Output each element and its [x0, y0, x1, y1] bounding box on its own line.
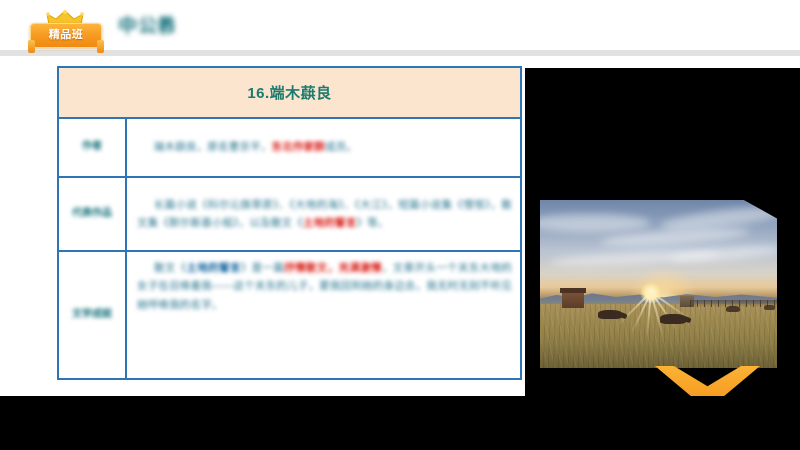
row-body-text: 长篇小说《科尔沁旗草原》、《大地的海》、《大江》，短篇小说集《憎恨》，散文集《默… [137, 196, 512, 233]
row-body-text: 端木蕻良，原名曹京平，东北作家群成员。 [137, 138, 357, 156]
grazing-horse [726, 306, 740, 312]
row-label-cell: 文学成就 [59, 252, 127, 378]
row-label: 代表作品 [72, 208, 112, 221]
row-body-cell: 散文《土地的誓言》是一篇抒情散文，充满激情，文章开头一个关东大地的女子在召唤着我… [127, 252, 520, 378]
brand-wordmark: 中公教育 [118, 14, 174, 40]
grass-texture [540, 304, 777, 368]
grassland [540, 304, 777, 368]
badge-plaque: 精品班 [30, 23, 102, 48]
premium-class-badge: 精品班 [28, 11, 102, 47]
row-label-cell: 代表作品 [59, 178, 127, 250]
content-table: 16.端木蕻良 作者 端木蕻良，原名曹京平，东北作家群成员。 代表作品 长篇小说… [57, 66, 522, 380]
row-label: 文学成就 [72, 309, 112, 322]
table-row: 代表作品 长篇小说《科尔沁旗草原》、《大地的海》、《大江》，短篇小说集《憎恨》，… [59, 178, 520, 252]
cloud-shape [670, 243, 777, 265]
row-label: 作者 [82, 141, 102, 154]
table-row: 作者 端木蕻良，原名曹京平，东北作家群成员。 [59, 119, 520, 178]
row-label-cell: 作者 [59, 119, 127, 176]
grazing-horse [764, 305, 775, 310]
table-header: 16.端木蕻良 [59, 68, 520, 119]
badge-label: 精品班 [49, 30, 84, 41]
row-body-cell: 端木蕻良，原名曹京平，东北作家群成员。 [127, 119, 520, 176]
grazing-horse [660, 314, 686, 324]
table-row: 文学成就 散文《土地的誓言》是一篇抒情散文，充满激情，文章开头一个关东大地的女子… [59, 252, 520, 378]
slide-canvas: 精品班 中公教育 16.端木蕻良 作者 端木蕻良，原名曹京平，东北作家群成员。 … [0, 0, 800, 450]
prairie-sunset-photo [540, 200, 777, 368]
cloud-shape [540, 214, 650, 232]
row-body-text: 散文《土地的誓言》是一篇抒情散文，充满激情，文章开头一个关东大地的女子在召唤着我… [137, 259, 512, 314]
page-title: 16.端木蕻良 [247, 82, 331, 103]
photo-image [540, 200, 777, 368]
row-body-cell: 长篇小说《科尔沁旗草原》、《大地的海》、《大江》，短篇小说集《憎恨》，散文集《默… [127, 178, 520, 250]
bottom-letterbox [0, 396, 800, 450]
badge-tab-left [28, 40, 35, 53]
badge-tab-right [97, 40, 104, 53]
barn-shed [562, 292, 584, 308]
grazing-horse [598, 310, 622, 319]
